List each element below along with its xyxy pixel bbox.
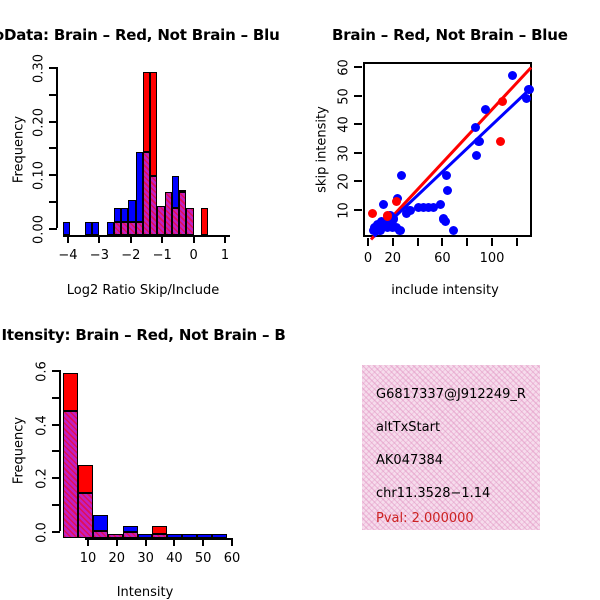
scatter-point xyxy=(498,97,507,106)
histogram-bar-overlap xyxy=(150,176,157,235)
histogram-bar-overlap xyxy=(143,152,150,235)
histogram-bar-overlap xyxy=(108,534,123,538)
annotation-infobox: G6817337@J912249_R altTxStart AK047384 c… xyxy=(362,365,540,530)
panel-gene-intensity-histogram: ne Itensity: Brain – Red, Not Brain – B … xyxy=(0,300,300,600)
histogram-bar xyxy=(123,526,138,533)
histogram-bar-overlap xyxy=(179,192,186,235)
scatter-plot-frame xyxy=(363,62,532,237)
info-line-locus: chr11.3528−1.14 xyxy=(376,486,490,501)
histogram-bar xyxy=(63,373,78,412)
y-tick-scatter xyxy=(354,66,362,68)
histogram-bar-overlap xyxy=(123,532,138,538)
scatter-point xyxy=(524,85,533,94)
y-tick-label-scatter: 10 xyxy=(337,191,352,231)
histogram-bar xyxy=(212,534,227,538)
scatter-point xyxy=(474,137,483,146)
histogram-bar-overlap xyxy=(157,206,164,235)
histogram-bar-overlap xyxy=(152,534,167,538)
x-tick-scatter xyxy=(392,238,394,246)
panel-intensity-scatter: Brain – Red, Not Brain – Blue skip inten… xyxy=(300,0,600,300)
panel-annotation: G6817337@J912249_R altTxStart AK047384 c… xyxy=(300,300,600,600)
y-tick-scatter xyxy=(354,152,362,154)
histogram-bar xyxy=(182,534,197,538)
histogram-bar xyxy=(78,465,93,493)
scatter-point xyxy=(508,71,517,80)
histogram-bar-overlap xyxy=(63,411,78,538)
axis-label-x-include-intensity: include intensity xyxy=(350,283,540,298)
info-line-event-type: altTxStart xyxy=(376,420,440,435)
scatter-point xyxy=(379,200,388,209)
histogram-bar xyxy=(143,72,150,152)
scatter-point xyxy=(397,171,406,180)
scatter-point xyxy=(395,226,404,235)
histogram-bar xyxy=(93,515,108,532)
x-tick-scatter xyxy=(417,238,419,246)
x-tick-label-scatter: 60 xyxy=(422,251,462,266)
scatter-point xyxy=(436,200,445,209)
plot-area-gene-intensity xyxy=(0,300,300,600)
histogram-bar xyxy=(92,222,99,235)
info-line-pvalue: Pval: 2.000000 xyxy=(376,511,474,526)
histogram-bar xyxy=(107,222,114,235)
scatter-point xyxy=(472,151,481,160)
histogram-bar xyxy=(138,534,153,538)
plot-area-log2-ratio xyxy=(0,0,300,300)
histogram-bar xyxy=(167,534,182,538)
y-tick-scatter xyxy=(354,123,362,125)
histogram-bar xyxy=(128,200,135,221)
x-tick-label-scatter: 100 xyxy=(472,251,512,266)
y-tick-scatter xyxy=(354,180,362,182)
histogram-bar xyxy=(152,526,167,534)
x-tick-scatter xyxy=(516,238,518,246)
x-tick-scatter xyxy=(367,238,369,246)
histogram-bar-overlap xyxy=(93,531,108,538)
histogram-bar-overlap xyxy=(121,222,128,235)
histogram-bar xyxy=(63,222,70,235)
histogram-bar-overlap xyxy=(172,208,179,235)
scatter-point xyxy=(383,211,392,220)
histogram-bar xyxy=(136,152,143,221)
histogram-bar-overlap xyxy=(165,192,172,235)
scatter-point xyxy=(442,171,451,180)
scatter-point xyxy=(496,137,505,146)
histogram-bar xyxy=(172,176,179,208)
histogram-bar-overlap xyxy=(136,222,143,235)
scatter-point xyxy=(368,209,377,218)
y-tick-scatter xyxy=(354,95,362,97)
histogram-bar xyxy=(114,208,121,221)
histogram-bar-overlap xyxy=(186,208,193,235)
histogram-bar xyxy=(150,72,157,176)
scatter-point xyxy=(441,217,450,226)
histogram-bar-overlap xyxy=(78,493,93,538)
x-tick-scatter xyxy=(466,238,468,246)
info-line-accession: AK047384 xyxy=(376,453,443,468)
histogram-bar-overlap xyxy=(128,222,135,235)
x-tick-label-scatter: 20 xyxy=(373,251,413,266)
panel-log2-ratio-histogram: atioData: Brain – Red, Not Brain – Blu F… xyxy=(0,0,300,300)
histogram-bar xyxy=(121,208,128,221)
panel-title-scatter: Brain – Red, Not Brain – Blue xyxy=(332,26,568,44)
scatter-point xyxy=(471,123,480,132)
x-tick-scatter xyxy=(491,238,493,246)
histogram-bar xyxy=(85,222,92,235)
histogram-bar xyxy=(201,208,208,235)
histogram-bar-overlap xyxy=(114,222,121,235)
x-tick-scatter xyxy=(441,238,443,246)
info-line-probe-id: G6817337@J912249_R xyxy=(376,387,526,402)
scatter-point xyxy=(522,94,531,103)
scatter-point xyxy=(449,226,458,235)
histogram-bar xyxy=(197,534,212,538)
scatter-point xyxy=(443,186,452,195)
axis-label-y-skip-intensity: skip intensity xyxy=(315,105,330,195)
y-tick-scatter xyxy=(354,209,362,211)
